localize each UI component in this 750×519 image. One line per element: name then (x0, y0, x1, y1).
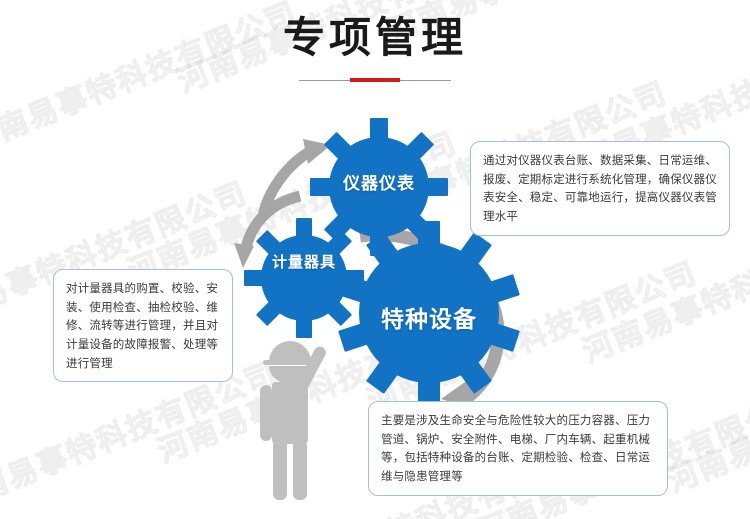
gear-label-instruments: 仪器仪表 (318, 169, 440, 194)
gear-label-metering: 计量器具 (249, 251, 359, 272)
page-title: 专项管理 (0, 14, 750, 62)
page-title-block: 专项管理 (0, 14, 750, 82)
title-underline-red (350, 78, 400, 82)
callout-metering: 对计量器具的购置、校验、安装、使用检查、抽检校验、维修、流转等进行管理，并且对计… (53, 269, 233, 382)
worker-figure-icon (260, 341, 328, 500)
callout-instruments: 通过对仪器仪表台账、数据采集、日常运维、报废、定期标定进行系统化管理，确保仪器仪… (470, 141, 730, 236)
infographic-canvas: 河南易事特科技有限公司河南易事特科技有限公司河南易事特科技有限公司河南易事特科技… (0, 0, 750, 519)
title-underline-decoration (299, 78, 451, 82)
gear-label-special: 特种设备 (351, 300, 507, 334)
callout-special: 主要是涉及生命安全与危险性较大的压力容器、压力管道、锅炉、安全附件、电梯、厂内车… (368, 401, 668, 496)
